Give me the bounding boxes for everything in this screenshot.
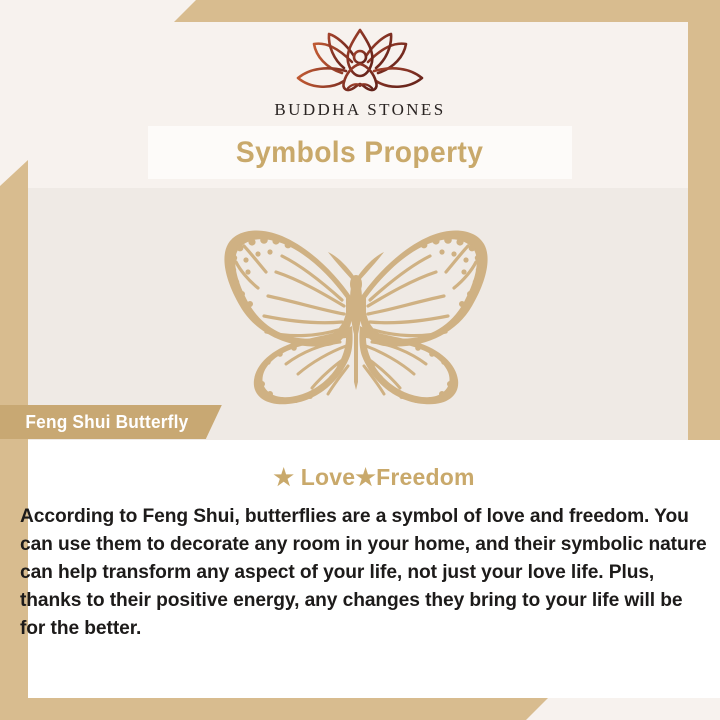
lotus-meditation-icon [286,26,434,96]
page-title: Symbols Property [236,136,483,170]
love-freedom-heading: ★ Love★Freedom [28,440,720,491]
feng-shui-ribbon: Feng Shui Butterfly [0,405,222,439]
brand-name: BUDDHA STONES [0,100,720,120]
brand-header: BUDDHA STONES [0,26,720,120]
product-info-graphic: BUDDHA STONES Symbols Property [0,0,720,720]
ribbon-label: Feng Shui Butterfly [25,412,188,433]
title-banner: Symbols Property [148,126,572,179]
butterfly-icon [206,214,506,414]
description-block: ★ Love★Freedom According to Feng Shui, b… [28,440,720,642]
frame-top-accent [0,0,720,22]
description-paragraph: According to Feng Shui, butterflies are … [20,503,710,642]
feature-image-stage [28,188,688,440]
frame-bottom-accent [0,698,720,720]
